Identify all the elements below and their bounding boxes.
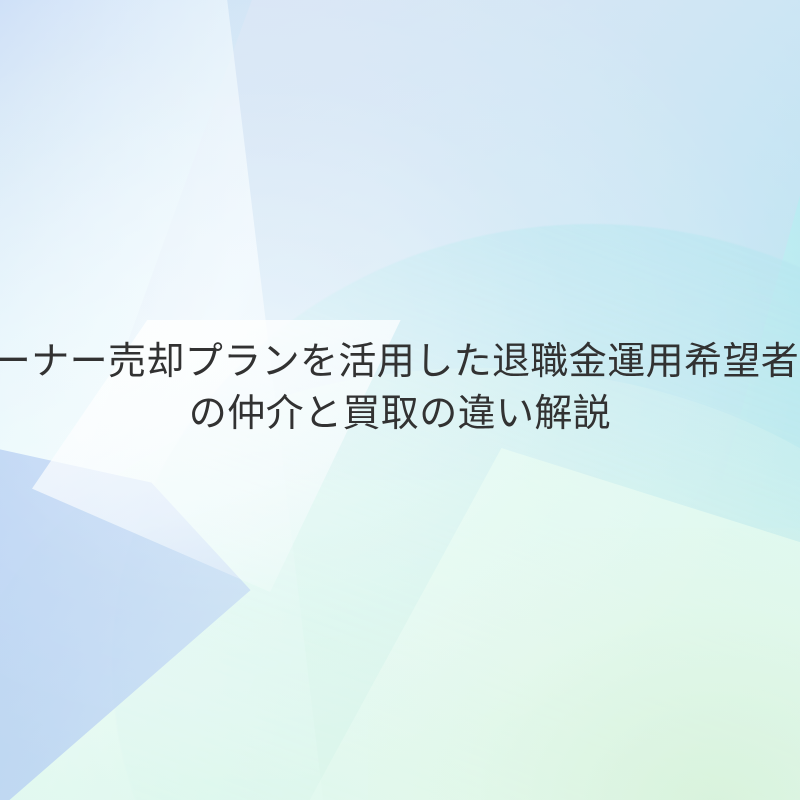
title-hero-card: オーナー売却プランを活用した退職金運用希望者の の仲介と買取の違い解説 — [0, 0, 800, 800]
background-haze-overlay — [0, 0, 800, 800]
